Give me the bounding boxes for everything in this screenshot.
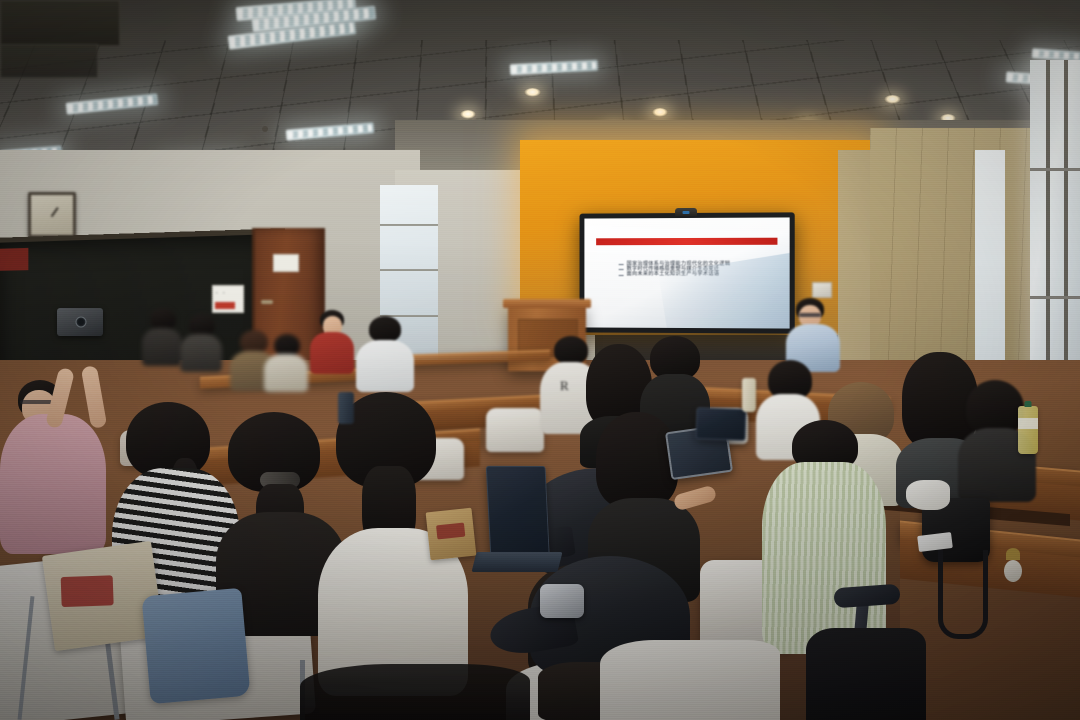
bag-strap	[938, 550, 988, 639]
hair-clip	[540, 584, 584, 618]
slide: 国家治理体系与治理能力现代化的文化逻辑 数字时代传播格局重塑与媒介生态变迁 面向…	[584, 217, 789, 328]
laptop[interactable]	[695, 407, 746, 441]
door-handle[interactable]	[261, 300, 273, 304]
laptop[interactable]	[486, 466, 550, 564]
tote-graphic	[61, 575, 114, 607]
presentation-display[interactable]: 国家治理体系与治理能力现代化的文化逻辑 数字时代传播格局重塑与媒介生态变迁 面向…	[580, 212, 795, 333]
board-marker-tray	[0, 248, 28, 271]
glasses-icon	[799, 313, 821, 317]
wall-speaker-icon	[812, 282, 832, 298]
foreground-silhouette	[806, 628, 926, 720]
slide-accent-bar	[596, 237, 777, 245]
paper-bag	[426, 508, 477, 561]
downlight-icon	[460, 110, 476, 119]
audience-member	[356, 316, 416, 390]
camera[interactable]	[57, 308, 103, 336]
bottle-label	[1018, 418, 1038, 429]
audience-member	[142, 308, 184, 364]
video-camera-icon	[675, 208, 697, 216]
downlight-icon	[524, 88, 541, 97]
wall-sign: 。。	[212, 285, 244, 313]
tissue	[906, 480, 950, 510]
chair[interactable]	[486, 408, 544, 452]
lectern-top	[503, 299, 591, 308]
bottle-cap	[1025, 401, 1032, 407]
audience-member	[310, 310, 356, 372]
foreground-silhouette	[300, 664, 530, 720]
bottle[interactable]	[1018, 406, 1038, 454]
bag-charm	[1004, 560, 1022, 582]
bottle[interactable]	[742, 378, 756, 412]
bottle[interactable]	[338, 392, 354, 424]
downlight-icon	[884, 95, 901, 104]
foreground-shoulder	[600, 640, 780, 720]
denim-jacket	[141, 588, 250, 704]
lecture-hall-photo: 。。 国家治理体系与治理能力现代化的文化逻辑 数字时代传播格局重塑与媒介生态变迁…	[0, 0, 1080, 720]
vent-icon	[0, 0, 120, 46]
vent-icon	[0, 44, 98, 78]
wall-sign-text: 。。	[216, 289, 230, 295]
audience-member	[264, 334, 310, 390]
tshirt-graphic: R	[560, 378, 569, 394]
glasses-icon	[20, 400, 52, 404]
downlight-icon	[652, 108, 668, 117]
sprinkler-icon	[262, 126, 268, 132]
photographer	[0, 352, 120, 552]
door-notice	[273, 254, 299, 272]
audience-member	[180, 314, 224, 370]
wall-clock	[28, 192, 76, 238]
arm	[81, 365, 108, 429]
bag-charm-ring	[1006, 548, 1020, 560]
